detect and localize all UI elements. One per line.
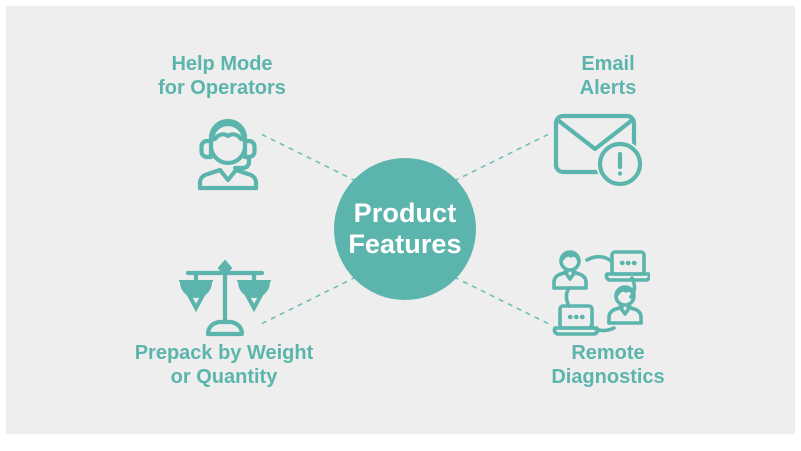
connector-hub-to-help — [261, 134, 356, 181]
hub-title-line-1: Product — [354, 198, 457, 229]
node-label-help-mode: Help Mode for Operators — [118, 52, 326, 101]
diagram-canvas: Product Features Help Mode for Operators — [0, 0, 801, 451]
connector-hub-to-remote — [454, 277, 549, 324]
balance-scale-icon — [178, 256, 272, 340]
node-label-email-alerts: Email Alerts — [508, 52, 708, 101]
remote-network-icon — [550, 244, 650, 340]
connector-hub-to-email — [454, 134, 549, 181]
node-label-remote-diagnostics: Remote Diagnostics — [508, 341, 708, 390]
headset-operator-icon — [186, 108, 270, 192]
connector-hub-to-prepack — [261, 277, 356, 324]
product-features-hub[interactable]: Product Features — [334, 158, 476, 300]
hub-title-line-2: Features — [348, 229, 461, 260]
node-label-prepack: Prepack by Weight or Quantity — [104, 341, 344, 390]
envelope-alert-icon — [548, 108, 648, 188]
